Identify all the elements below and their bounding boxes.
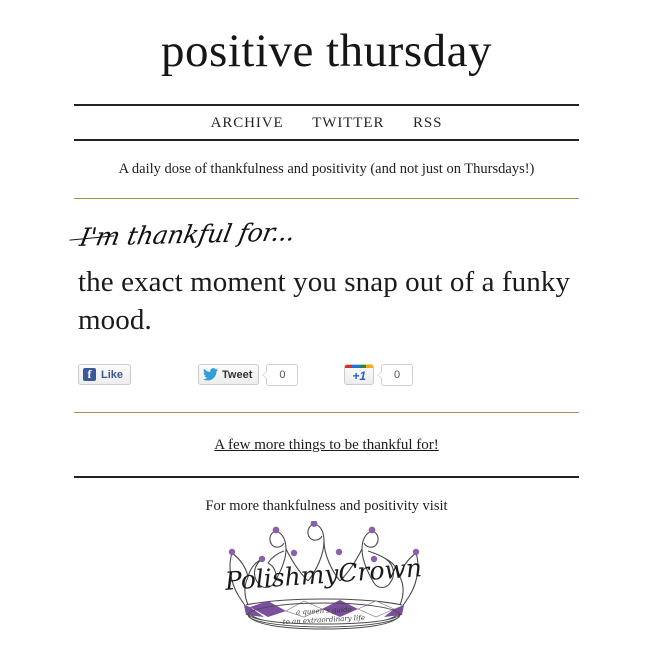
main-navigation: ARCHIVE TWITTER RSS bbox=[74, 106, 579, 139]
page-root: positive thursday ARCHIVE TWITTER RSS A … bbox=[0, 0, 653, 653]
content-container: positive thursday ARCHIVE TWITTER RSS A … bbox=[74, 0, 579, 631]
google-plus-one-button[interactable]: +1 bbox=[344, 364, 374, 385]
facebook-like-button[interactable]: f Like bbox=[78, 364, 131, 385]
nav-item-twitter[interactable]: TWITTER bbox=[312, 115, 384, 131]
twitter-tweet-button[interactable]: Tweet bbox=[198, 364, 259, 385]
share-buttons-row: f Like Tweet 0 bbox=[74, 340, 579, 386]
facebook-f-icon: f bbox=[83, 368, 96, 381]
twitter-tweet-label: Tweet bbox=[222, 369, 252, 381]
post: I'm thankful for... the exact moment you… bbox=[74, 199, 579, 386]
twitter-share-slot: Tweet 0 bbox=[198, 364, 298, 386]
site-tagline: A daily dose of thankfulness and positiv… bbox=[74, 141, 579, 198]
google-color-stripe-icon bbox=[345, 365, 373, 368]
more-link-wrap: A few more things to be thankful for! bbox=[74, 413, 579, 476]
google-plus-one-label: +1 bbox=[352, 369, 366, 383]
post-script-label: I'm thankful for... bbox=[72, 212, 584, 250]
facebook-share-slot: f Like bbox=[78, 364, 131, 385]
nav-item-archive[interactable]: ARCHIVE bbox=[211, 115, 284, 131]
googleplus-share-count: 0 bbox=[381, 364, 413, 386]
more-things-link[interactable]: A few more things to be thankful for! bbox=[214, 437, 439, 453]
logo-wordmark: PolishmyCrown bbox=[224, 553, 423, 596]
post-body: the exact moment you snap out of a funky… bbox=[74, 250, 579, 340]
facebook-like-label: Like bbox=[101, 369, 123, 381]
footer-logo-wrap: PolishmyCrown a queen's guide to an extr… bbox=[74, 519, 579, 631]
twitter-share-count: 0 bbox=[266, 364, 298, 386]
footer-note: For more thankfulness and positivity vis… bbox=[74, 478, 579, 519]
twitter-bird-icon bbox=[203, 368, 218, 381]
page-title: positive thursday bbox=[74, 0, 579, 75]
polish-my-crown-logo[interactable]: PolishmyCrown a queen's guide to an extr… bbox=[224, 521, 429, 631]
googleplus-share-slot: +1 0 bbox=[344, 364, 413, 386]
nav-item-rss[interactable]: RSS bbox=[413, 115, 442, 131]
